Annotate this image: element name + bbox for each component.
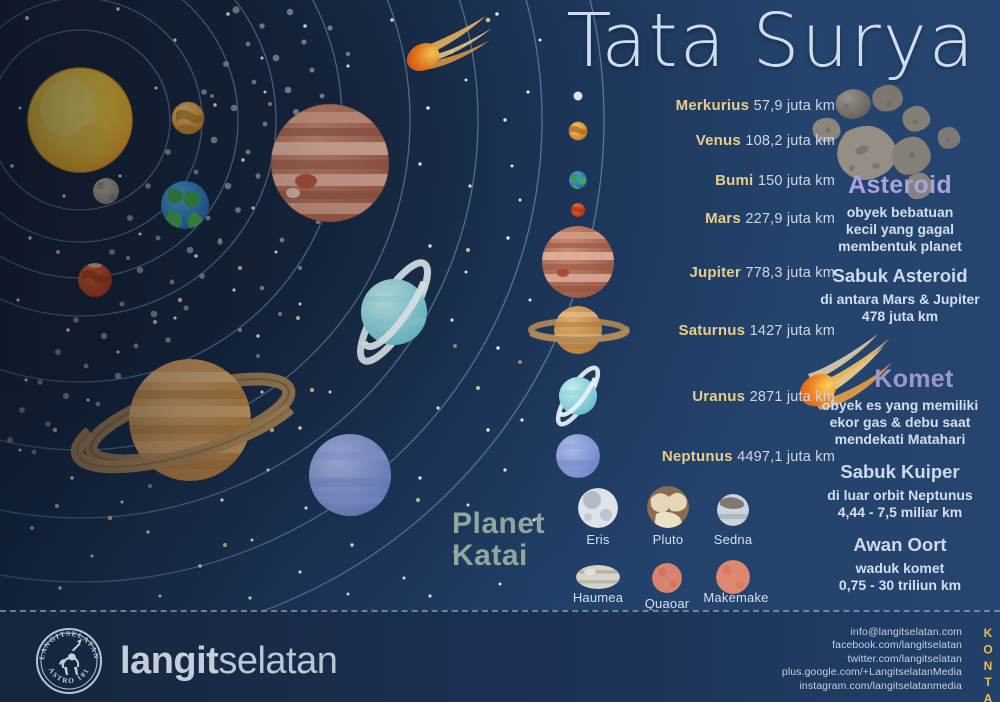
komet-desc-line3: mendekati Matahari xyxy=(800,431,1000,448)
brand-lockup[interactable]: LANGITSELATAN ASTRO 101 langitselatan xyxy=(34,626,337,696)
dwarf-planet-title: Planet Katai xyxy=(452,508,545,571)
poster-root: Tata Surya Merkurius 57,9 juta km Venus … xyxy=(0,0,1000,702)
logo-inner-text: ASTRO 101 xyxy=(47,666,92,685)
brand-wordmark: langitselatan xyxy=(120,642,337,680)
kontak-vertical-label: KONTAK xyxy=(982,626,994,702)
dwarf-label: Quaoar xyxy=(630,596,704,611)
dwarf-item-makemake: Makemake xyxy=(694,590,778,605)
planet-saturn-art xyxy=(77,359,297,481)
dwarf-item-haumea: Haumea xyxy=(560,590,636,605)
komet-heading: Komet xyxy=(800,366,1000,392)
sabuk-asteroid-line1: di antara Mars & Jupiter xyxy=(800,291,1000,308)
dwarf-label: Eris xyxy=(568,532,628,547)
dwarf-title-line1: Planet xyxy=(452,508,545,540)
planet-uranus-art xyxy=(349,255,438,370)
komet-desc-line1: obyek es yang memiliki xyxy=(800,397,1000,414)
planet-name: Mars xyxy=(705,210,741,227)
dwarf-item-pluto: Pluto xyxy=(638,532,698,547)
contact-twitter[interactable]: twitter.com/langitselatan xyxy=(782,653,962,666)
centaur-archer-glyph xyxy=(59,639,82,675)
planet-jupiter-art xyxy=(271,104,389,222)
asteroid-desc-line1: obyek bebatuan xyxy=(800,204,1000,221)
awan-oort-line2: 0,75 - 30 triliun km xyxy=(800,577,1000,594)
footer: LANGITSELATAN ASTRO 101 langitselatan xyxy=(0,610,1000,702)
sabuk-kuiper-heading: Sabuk Kuiper xyxy=(800,461,1000,483)
asteroid-block: Asteroid obyek bebatuan kecil yang gagal… xyxy=(800,172,1000,255)
contact-email[interactable]: info@langitselatan.com xyxy=(782,626,962,639)
dwarf-label: Makemake xyxy=(694,590,778,605)
planet-name: Neptunus xyxy=(662,448,733,465)
dwarf-label: Sedna xyxy=(703,532,763,547)
planet-mercury-art xyxy=(93,178,119,204)
contact-instagram[interactable]: instagram.com/langitselatanmedia xyxy=(782,680,962,693)
asteroid-desc-line3: membentuk planet xyxy=(800,238,1000,255)
planet-name: Saturnus xyxy=(679,322,746,339)
contact-list: info@langitselatan.com facebook.com/lang… xyxy=(782,626,962,693)
asteroid-heading: Asteroid xyxy=(800,172,1000,198)
dwarf-label: Pluto xyxy=(638,532,698,547)
planet-name: Bumi xyxy=(715,172,753,189)
sabuk-asteroid-heading: Sabuk Asteroid xyxy=(800,265,1000,287)
planet-neptune-art xyxy=(309,434,391,516)
planet-name: Venus xyxy=(696,132,741,149)
awan-oort-heading: Awan Oort xyxy=(800,534,1000,556)
sabuk-kuiper-block: Sabuk Kuiper di luar orbit Neptunus 4,44… xyxy=(800,461,1000,520)
sabuk-kuiper-line1: di luar orbit Neptunus xyxy=(800,487,1000,504)
komet-desc-line2: ekor gas & debu saat xyxy=(800,414,1000,431)
dwarf-item-eris: Eris xyxy=(568,532,628,547)
planet-name: Uranus xyxy=(692,388,745,405)
dwarf-item-quaoar: Quaoar xyxy=(630,596,704,611)
contact-facebook[interactable]: facebook.com/langitselatan xyxy=(782,639,962,652)
info-column: Asteroid obyek bebatuan kecil yang gagal… xyxy=(800,0,1000,605)
sabuk-asteroid-block: Sabuk Asteroid di antara Mars & Jupiter … xyxy=(800,265,1000,324)
brand-bold-text: langit xyxy=(120,640,218,682)
planet-earth-art xyxy=(161,181,209,230)
planet-name: Merkurius xyxy=(676,97,750,114)
comet-illustration xyxy=(402,16,492,76)
dwarf-label: Haumea xyxy=(560,590,636,605)
komet-block: Komet obyek es yang memiliki ekor gas & … xyxy=(800,366,1000,448)
awan-oort-block: Awan Oort waduk komet 0,75 - 30 triliun … xyxy=(800,534,1000,593)
awan-oort-line1: waduk komet xyxy=(800,560,1000,577)
asteroid-desc-line2: kecil yang gagal xyxy=(800,221,1000,238)
langitselatan-logo-icon: LANGITSELATAN ASTRO 101 xyxy=(34,626,104,696)
dwarf-planet-captions: Eris Pluto Sedna Haumea Quaoar Makemake xyxy=(560,478,800,608)
dwarf-item-sedna: Sedna xyxy=(703,532,763,547)
svg-text:ASTRO 101: ASTRO 101 xyxy=(47,666,92,685)
sun xyxy=(28,68,132,172)
brand-light-text: selatan xyxy=(218,640,337,682)
planet-name: Jupiter xyxy=(689,264,740,281)
dwarf-title-line2: Katai xyxy=(452,540,545,572)
footer-divider xyxy=(0,610,1000,612)
sabuk-kuiper-line2: 4,44 - 7,5 miliar km xyxy=(800,504,1000,521)
sabuk-asteroid-line2: 478 juta km xyxy=(800,308,1000,325)
contact-googleplus[interactable]: plus.google.com/+LangitselatanMedia xyxy=(782,666,962,679)
planet-mars-art xyxy=(78,262,112,302)
